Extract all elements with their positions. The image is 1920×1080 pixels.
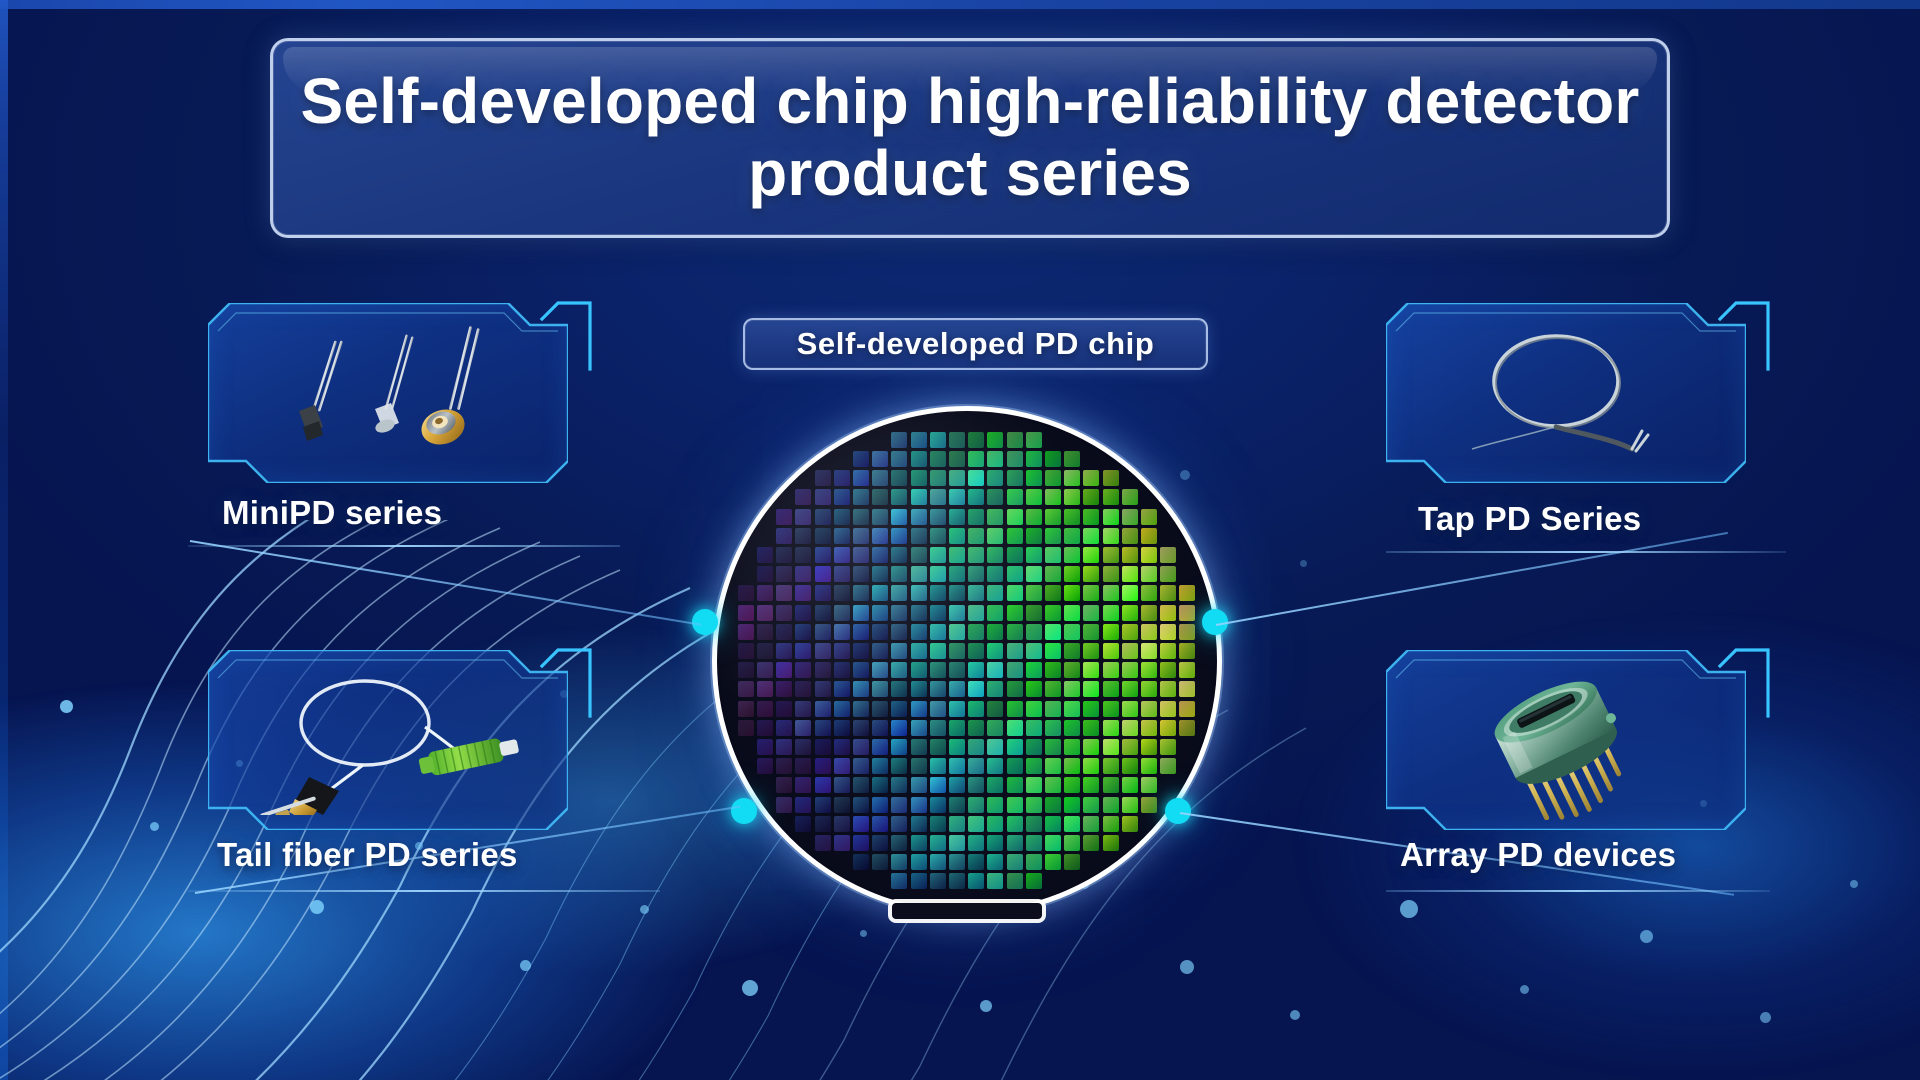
wafer-figure — [712, 406, 1222, 916]
slide-title-box: Self-developed chip high-reliability det… — [270, 38, 1670, 238]
center-chip-badge-label: Self-developed PD chip — [797, 326, 1155, 362]
wafer-flat-notch — [892, 903, 1042, 919]
connector-node-tailfiber — [731, 798, 757, 824]
top-accent-strip — [0, 0, 1920, 9]
product-label-minipd: MiniPD series — [222, 494, 442, 532]
label-rule-tailfiber — [188, 890, 660, 892]
slide-canvas: Self-developed chip high-reliability det… — [0, 0, 1920, 1080]
label-rule-arraypd — [1386, 890, 1770, 892]
product-image-tailfiber — [208, 650, 568, 830]
product-label-tailfiber: Tail fiber PD series — [217, 836, 518, 874]
product-image-arraypd — [1386, 650, 1746, 830]
product-frame-minipd[interactable] — [208, 303, 568, 483]
page-title: Self-developed chip high-reliability det… — [273, 66, 1667, 209]
center-chip-badge: Self-developed PD chip — [743, 318, 1208, 370]
connector-node-arraypd — [1165, 798, 1191, 824]
label-rule-minipd — [188, 545, 620, 547]
product-frame-tappd[interactable] — [1386, 303, 1746, 483]
wafer-disc — [712, 406, 1222, 916]
wafer-die-grid — [717, 411, 1217, 911]
product-frame-arraypd[interactable] — [1386, 650, 1746, 830]
product-label-tappd: Tap PD Series — [1418, 500, 1641, 538]
product-image-minipd — [208, 303, 568, 483]
product-frame-tailfiber[interactable] — [208, 650, 568, 830]
product-image-tappd — [1386, 303, 1746, 483]
label-rule-tappd — [1386, 551, 1786, 553]
product-label-arraypd: Array PD devices — [1400, 836, 1676, 874]
